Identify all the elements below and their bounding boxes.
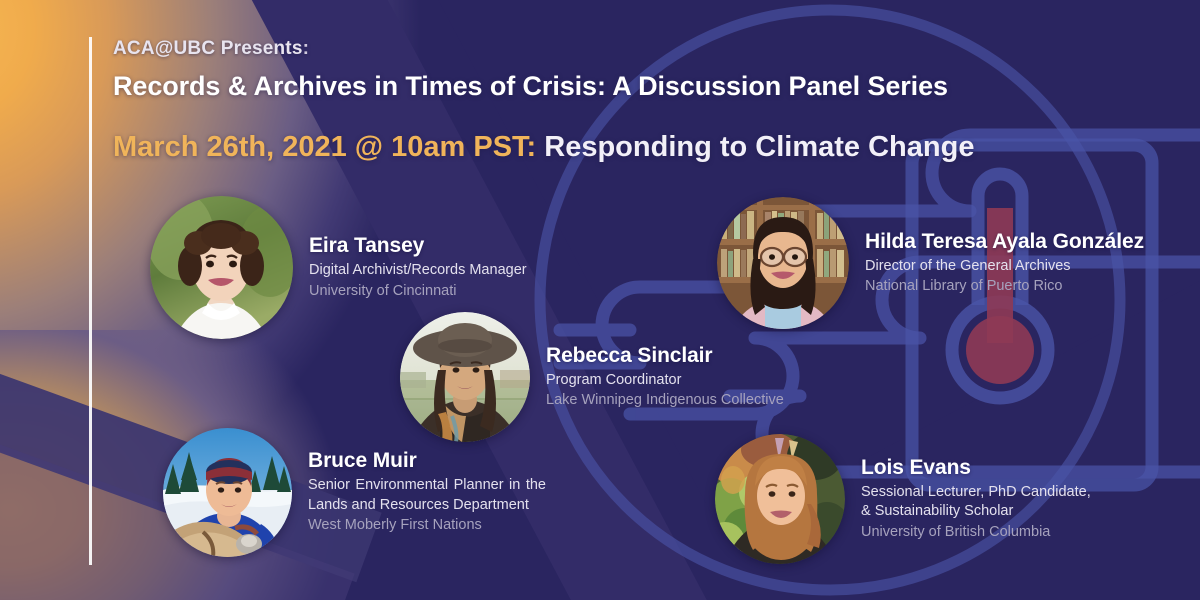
speaker-card: Rebecca Sinclair Program Coordinator Lak… (400, 312, 784, 442)
speaker-role-line2: Lands and Resources Department (308, 496, 546, 515)
speaker-info: Rebecca Sinclair Program Coordinator Lak… (546, 344, 784, 411)
speaker-name: Eira Tansey (309, 234, 527, 258)
page-title: Records & Archives in Times of Crisis: A… (113, 71, 1013, 102)
vertical-divider-line (89, 37, 92, 565)
presents-label: ACA@UBC Presents (113, 38, 303, 59)
speaker-role-line1: Sessional Lecturer, PhD Candidate, (861, 483, 1091, 502)
portrait-rebecca-sinclair (400, 312, 530, 442)
speaker-info: Hilda Teresa Ayala González Director of … (865, 230, 1144, 297)
speaker-role: Program Coordinator (546, 371, 784, 390)
speaker-info: Eira Tansey Digital Archivist/Records Ma… (309, 234, 527, 301)
header-block: ACA@UBC Presents: Records & Archives in … (113, 38, 1013, 102)
speaker-org: University of Cincinnati (309, 282, 527, 301)
portrait-bruce-muir (163, 428, 292, 557)
speaker-org: University of British Columbia (861, 523, 1091, 542)
event-date: March 26th, 2021 @ 10am PST: (113, 131, 536, 163)
presents-colon: : (303, 38, 310, 59)
speaker-role-line1: Senior Environmental Planner in the (308, 476, 546, 495)
presents-line: ACA@UBC Presents: (113, 38, 1013, 60)
speaker-name: Lois Evans (861, 456, 1091, 480)
speaker-name: Rebecca Sinclair (546, 344, 784, 368)
speaker-role-line2: & Sustainability Scholar (861, 502, 1091, 521)
speaker-role: Director of the General Archives (865, 257, 1144, 276)
speaker-info: Bruce Muir Senior Environmental Planner … (308, 449, 546, 535)
event-poster: ACA@UBC Presents: Records & Archives in … (0, 0, 1200, 600)
event-topic: Responding to Climate Change (544, 131, 974, 163)
speaker-card: Bruce Muir Senior Environmental Planner … (163, 428, 546, 557)
speaker-card: Lois Evans Sessional Lecturer, PhD Candi… (715, 434, 1091, 564)
portrait-hilda-teresa-ayala-gonzalez (717, 197, 849, 329)
portrait-eira-tansey (150, 196, 293, 339)
speaker-card: Hilda Teresa Ayala González Director of … (717, 197, 1144, 329)
speaker-info: Lois Evans Sessional Lecturer, PhD Candi… (861, 456, 1091, 542)
speaker-org: West Moberly First Nations (308, 516, 546, 535)
speaker-org: National Library of Puerto Rico (865, 277, 1144, 296)
speaker-name: Hilda Teresa Ayala González (865, 230, 1144, 254)
portrait-lois-evans (715, 434, 845, 564)
speaker-org: Lake Winnipeg Indigenous Collective (546, 391, 784, 410)
speaker-role: Digital Archivist/Records Manager (309, 261, 527, 280)
speaker-name: Bruce Muir (308, 449, 546, 473)
event-subline: March 26th, 2021 @ 10am PST: Responding … (113, 131, 974, 164)
